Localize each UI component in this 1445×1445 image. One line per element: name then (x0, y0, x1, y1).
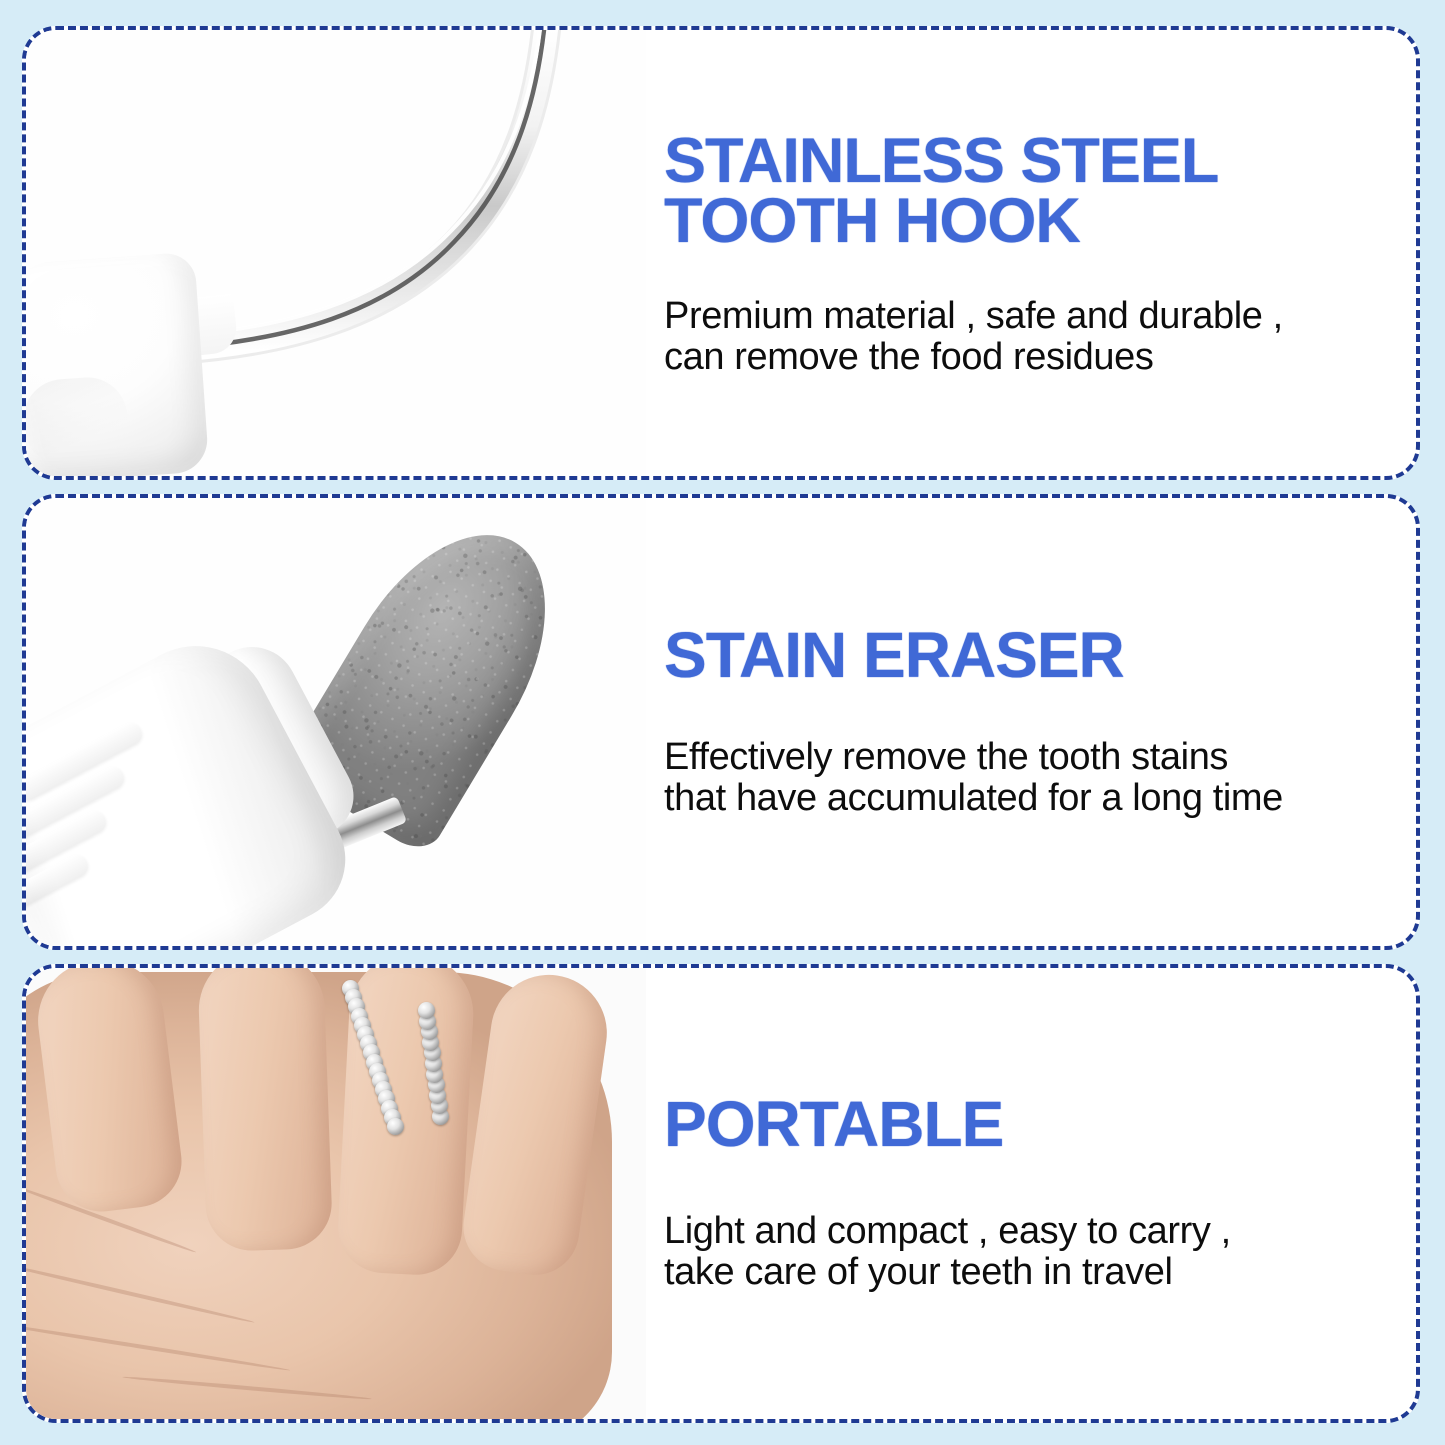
palm-crease (26, 1260, 255, 1325)
feature-subcopy: Light and compact , easy to carry , take… (664, 1211, 1382, 1293)
palm-crease (26, 1320, 290, 1372)
feature-headline: STAIN ERASER (664, 625, 1382, 686)
feature-image-tooth-hook (26, 30, 646, 476)
feature-copy-tooth-hook: STAINLESS STEEL TOOTH HOOK Premium mater… (646, 30, 1416, 476)
chain-bead (387, 1118, 404, 1135)
feature-copy-stain-eraser: STAIN ERASER Effectively remove the toot… (646, 498, 1416, 946)
hook-handle-body (26, 252, 209, 476)
feature-image-stain-eraser (26, 498, 646, 946)
palm-illustration (26, 968, 646, 1419)
feature-panel-stain-eraser: STAIN ERASER Effectively remove the toot… (22, 494, 1420, 950)
stain-eraser-illustration (26, 498, 646, 946)
feature-headline: STAINLESS STEEL TOOTH HOOK (664, 132, 1382, 252)
feature-panel-stainless-steel-tooth-hook: STAINLESS STEEL TOOTH HOOK Premium mater… (22, 26, 1420, 480)
chain-bead (418, 1002, 435, 1019)
finger (197, 968, 333, 1252)
feature-copy-portable: PORTABLE Light and compact , easy to car… (646, 968, 1416, 1419)
feature-subcopy: Premium material , safe and durable , ca… (664, 296, 1382, 378)
feature-image-portable (26, 968, 646, 1419)
tooth-hook-illustration (26, 30, 646, 476)
infographic-board: STAINLESS STEEL TOOTH HOOK Premium mater… (0, 0, 1445, 1445)
palm-crease (122, 1375, 371, 1401)
feature-headline: PORTABLE (664, 1094, 1382, 1155)
feature-subcopy: Effectively remove the tooth stains that… (664, 737, 1382, 819)
feature-panel-portable: REGEAVRT PORTABLE Light and compact , ea… (22, 964, 1420, 1423)
